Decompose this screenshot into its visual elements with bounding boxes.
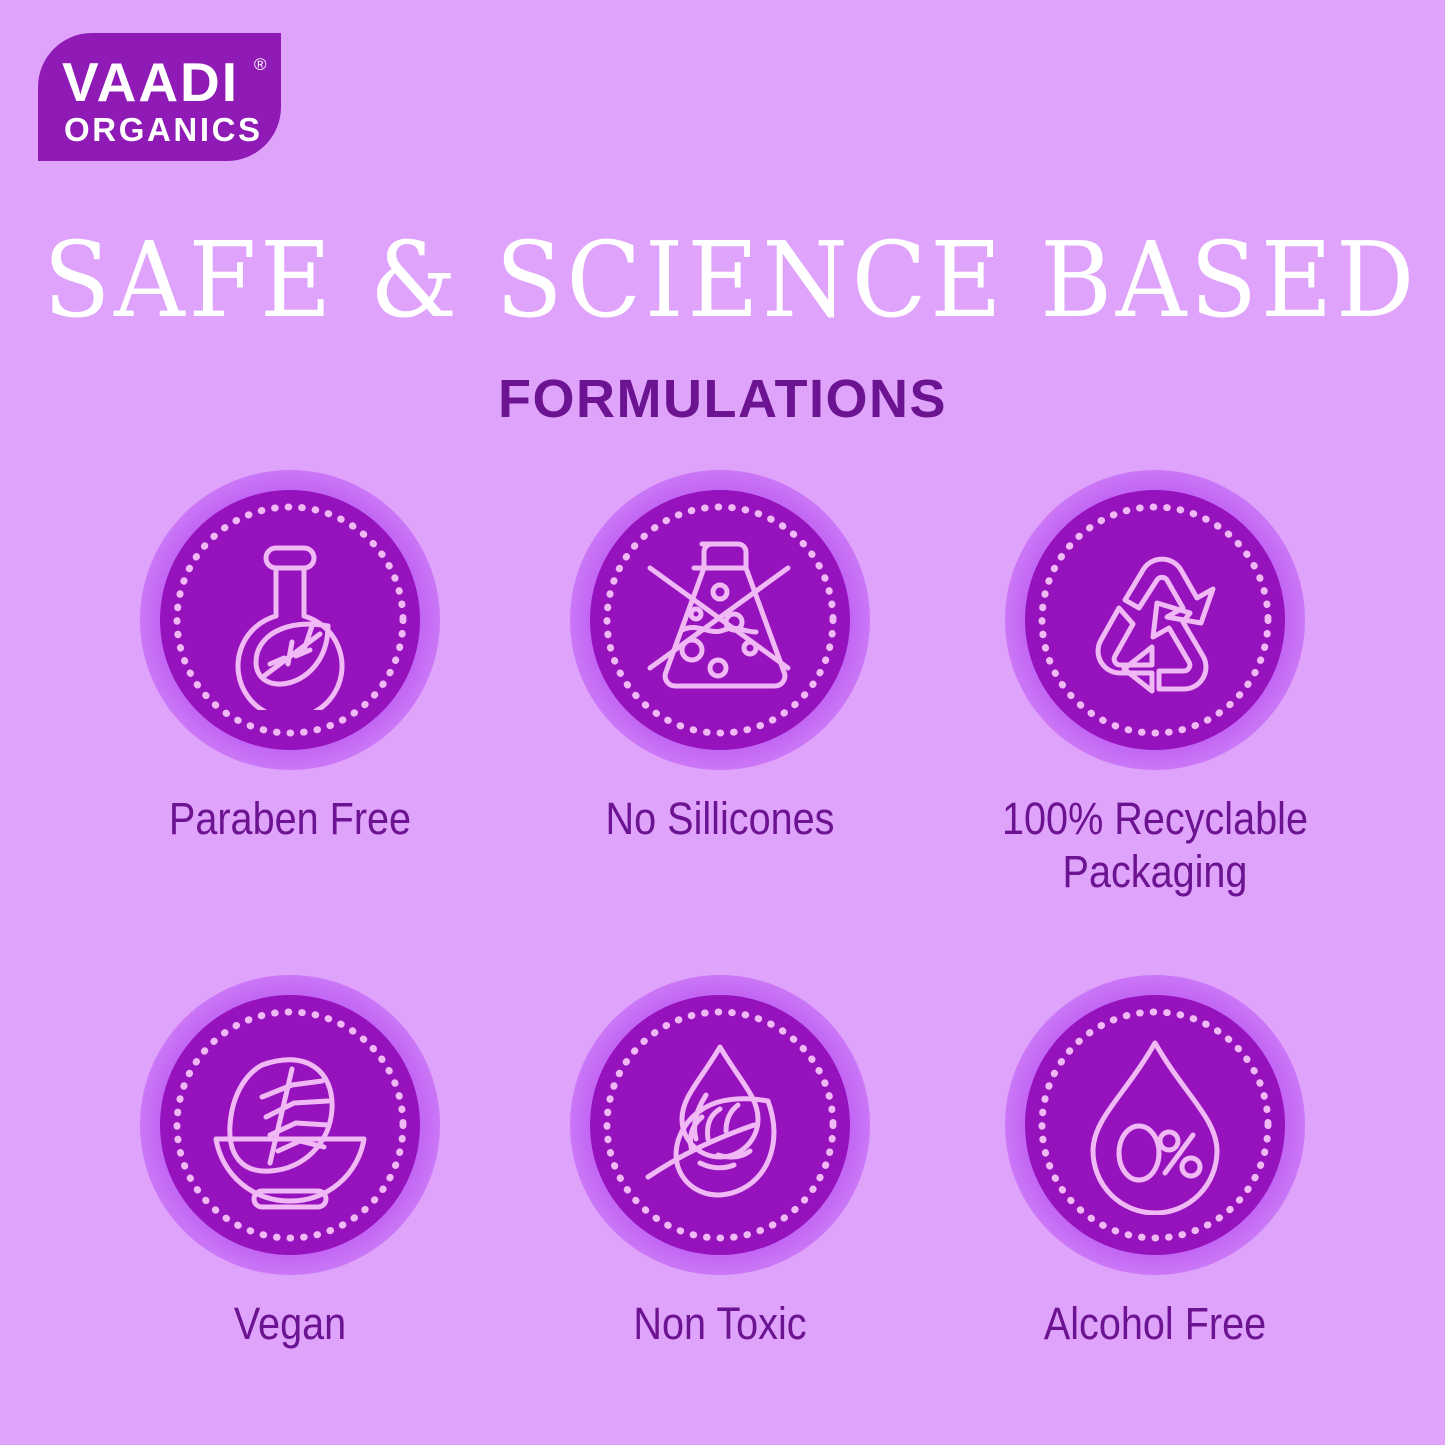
droplet-leaf-icon (630, 1035, 810, 1215)
medallion (140, 975, 440, 1275)
badge-item-alcohol-free: Alcohol Free (940, 975, 1370, 1350)
badge-grid: Paraben Free (0, 470, 1445, 1445)
promo-poster: VAADI ® ORGANICS SAFE & SCIENCE BASED FO… (0, 0, 1445, 1445)
droplet-zero-percent-icon (1065, 1035, 1245, 1215)
badge-item-recyclable-packaging: 100% RecyclablePackaging (940, 470, 1370, 898)
medallion (1005, 975, 1305, 1275)
badge-item-non-toxic: Non Toxic (505, 975, 935, 1350)
badge-row: Vegan (0, 975, 1445, 1445)
badge-row: Paraben Free (0, 470, 1445, 975)
badge-label: Non Toxic (531, 1297, 909, 1350)
flask-crossed-out-icon (630, 530, 810, 710)
medallion (140, 470, 440, 770)
brand-logo: VAADI ® ORGANICS (38, 33, 281, 161)
badge-label: Paraben Free (101, 792, 479, 845)
brand-tagline: ORGANICS (64, 113, 263, 146)
badge-label: No Sillicones (531, 792, 909, 845)
bowl-leaf-icon (200, 1035, 380, 1215)
badge-item-vegan: Vegan (75, 975, 505, 1350)
medallion (570, 470, 870, 770)
badge-item-no-sillicones: No Sillicones (505, 470, 935, 845)
recycle-icon (1065, 530, 1245, 710)
page-title: SAFE & SCIENCE BASED (43, 228, 1401, 332)
brand-wordmark: VAADI (62, 55, 239, 110)
badge-label: Vegan (101, 1297, 479, 1350)
medallion (570, 975, 870, 1275)
page-subtitle: FORMULATIONS (0, 372, 1445, 426)
badge-label: Alcohol Free (966, 1297, 1344, 1350)
registered-trademark-icon: ® (254, 55, 267, 75)
medallion (1005, 470, 1305, 770)
badge-label-line1: 100% RecyclablePackaging (1002, 793, 1308, 897)
badge-item-paraben-free: Paraben Free (75, 470, 505, 845)
badge-label: 100% RecyclablePackaging (966, 792, 1344, 898)
flask-leaf-icon (200, 530, 380, 710)
